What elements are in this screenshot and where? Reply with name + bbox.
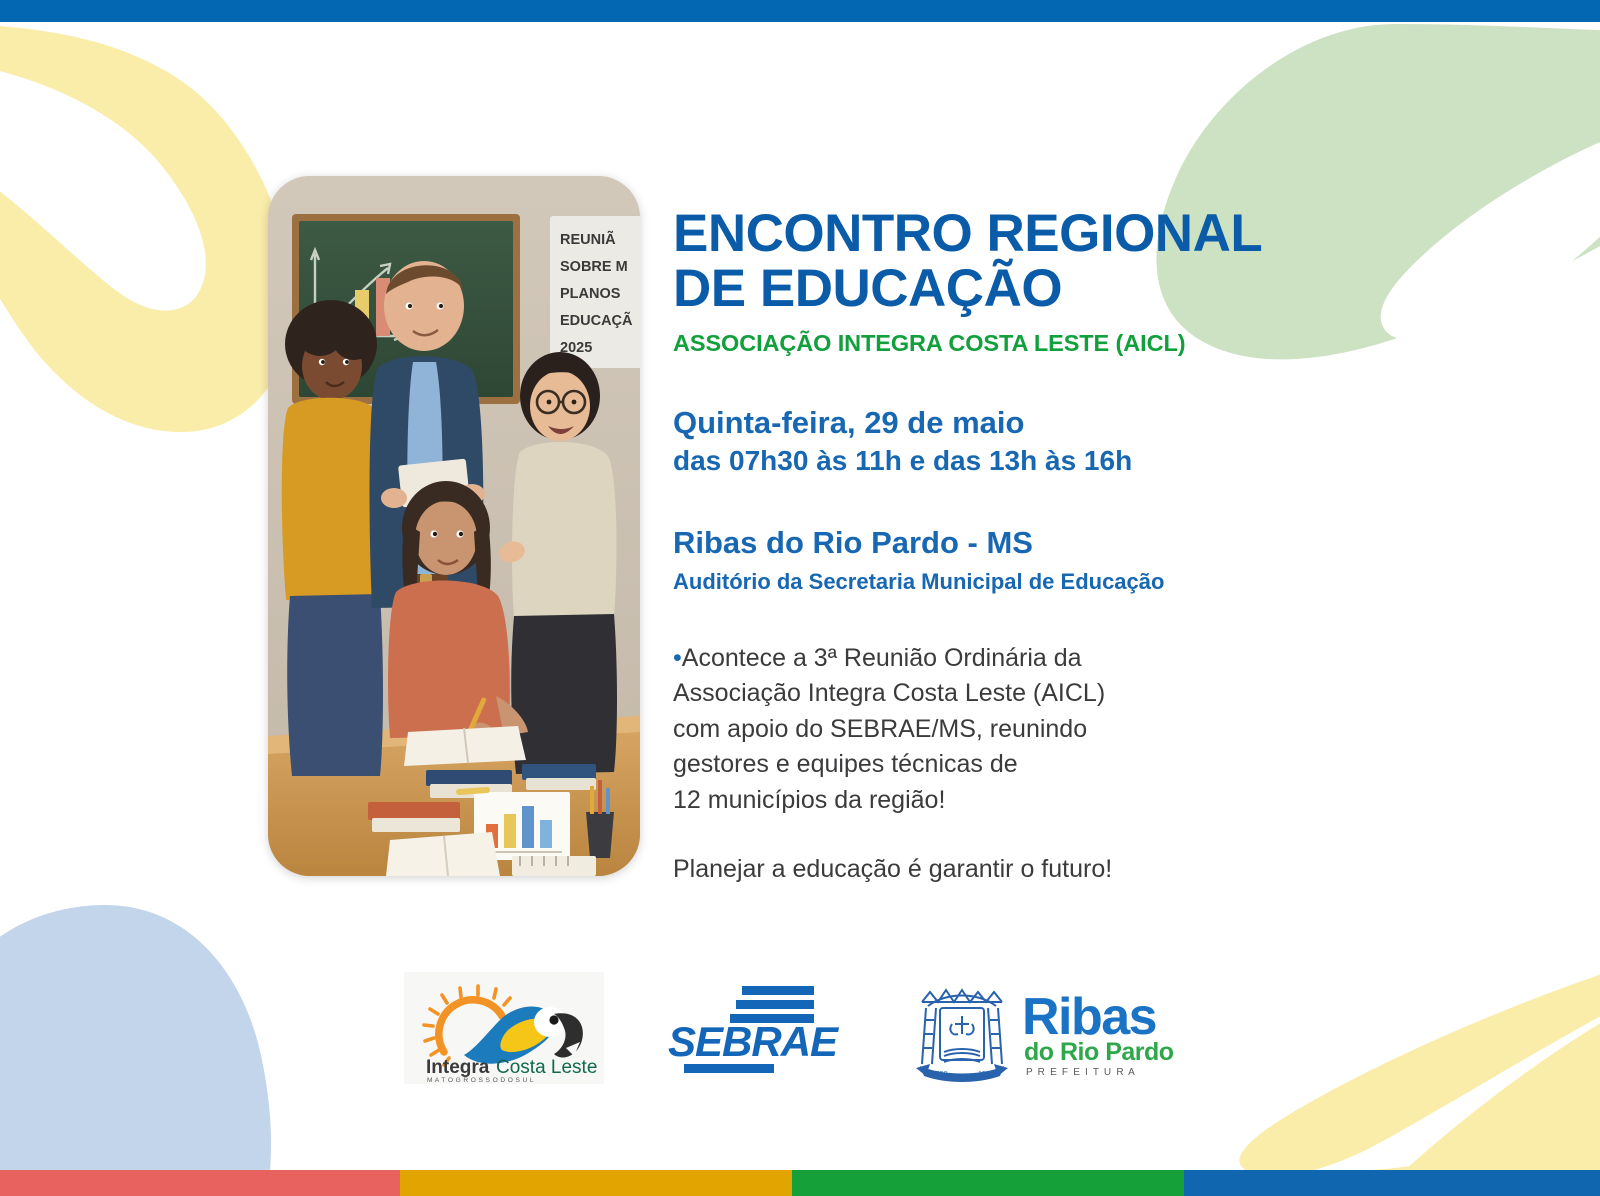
integra-wordmark-part2: Costa Leste (496, 1057, 597, 1078)
blob-yellow-top-left (0, 24, 292, 432)
logo-ribas-do-rio-pardo: 1950 1964 Ribas do Rio Pardo P R E F E I… (906, 972, 1196, 1084)
svg-text:PLANOS: PLANOS (560, 286, 621, 302)
date-time-block: Quinta-feira, 29 de maio das 07h30 às 11… (673, 403, 1373, 479)
sebrae-wordmark: SEBRAE (668, 1018, 840, 1065)
book-blue (522, 764, 596, 780)
sponsor-logo-strip: Integra Costa Leste M A T O G R O S S O … (0, 965, 1600, 1090)
event-date: Quinta-feira, 29 de maio (673, 403, 1373, 443)
poster-canvas: REUNIÃ SOBRE M PLANOS EDUCAÇÃ 2025 (0, 0, 1600, 1196)
bottom-bar-segment-blue (1184, 1170, 1600, 1196)
title-line-1: ENCONTRO REGIONAL (673, 204, 1262, 263)
title-line-2: DE EDUCAÇÃO (673, 259, 1062, 318)
description-line-2: Associação Integra Costa Leste (AICL) (673, 676, 1373, 712)
integra-wordmark-part1: Integra (426, 1057, 490, 1078)
ribas-tagline: P R E F E I T U R A (1026, 1067, 1136, 1078)
coat-of-arms-year-right: 1964 (978, 1071, 994, 1078)
description-line-5: 12 municípios da região! (673, 783, 1373, 819)
blob-yellow-bottom-right (1370, 1110, 1600, 1170)
description-line-4: gestores e equipes técnicas de (673, 747, 1373, 783)
poster-text-content: ENCONTRO REGIONAL DE EDUCAÇÃO ASSOCIAÇÃO… (673, 206, 1373, 888)
integra-tagline: M A T O G R O S S O D O S U L (427, 1077, 534, 1084)
integra-costa-leste-logo: Integra Costa Leste M A T O G R O S S O … (404, 972, 604, 1084)
event-venue: Auditório da Secretaria Municipal de Edu… (673, 567, 1373, 596)
svg-text:EDUCAÇÃ: EDUCAÇÃ (560, 311, 633, 329)
svg-text:REUNIÃ: REUNIÃ (560, 230, 616, 248)
classroom-illustration-card: REUNIÃ SOBRE M PLANOS EDUCAÇÃ 2025 (268, 176, 640, 876)
logo-integra-costa-leste: Integra Costa Leste M A T O G R O S S O … (404, 972, 604, 1084)
spiral-notepad (512, 856, 596, 876)
bottom-color-bar (0, 1170, 1600, 1196)
description-line-1: •Acontece a 3ª Reunião Ordinária da (673, 641, 1373, 677)
book-orange (368, 802, 460, 820)
bullet-icon: • (673, 644, 682, 672)
bottom-bar-segment-amber (400, 1170, 792, 1196)
logo-sebrae: SEBRAE (662, 978, 848, 1078)
book-navy (426, 770, 512, 786)
pencil-cup (586, 812, 614, 858)
event-time: das 07h30 às 11h e das 13h às 16h (673, 443, 1373, 479)
blob-yellow-top-left-cut (0, 60, 206, 311)
coat-of-arms-year-left: 1950 (932, 1071, 948, 1078)
city-coat-of-arms-icon (916, 990, 1008, 1082)
description-block: •Acontece a 3ª Reunião Ordinária da Asso… (673, 641, 1373, 888)
sebrae-logo: SEBRAE (662, 978, 848, 1078)
description-line-3: com apoio do SEBRAE/MS, reunindo (673, 712, 1373, 748)
event-city: Ribas do Rio Pardo - MS (673, 523, 1373, 563)
page-title: ENCONTRO REGIONAL DE EDUCAÇÃO (673, 206, 1373, 316)
description-text-1: Acontece a 3ª Reunião Ordinária da (682, 644, 1082, 672)
ribas-do-rio-pardo-logo: 1950 1964 Ribas do Rio Pardo P R E F E I… (906, 972, 1196, 1084)
svg-text:SOBRE M: SOBRE M (560, 259, 628, 275)
bottom-bar-segment-red (0, 1170, 400, 1196)
bottom-bar-segment-green (792, 1170, 1184, 1196)
classroom-team-illustration: REUNIÃ SOBRE M PLANOS EDUCAÇÃ 2025 (268, 176, 640, 876)
macaw-eye-icon (549, 1015, 558, 1024)
organization-subtitle: ASSOCIAÇÃO INTEGRA COSTA LESTE (AICL) (673, 330, 1373, 357)
blob-green-top-right-cut (1381, 120, 1600, 340)
closing-statement: Planejar a educação é garantir o futuro! (673, 852, 1373, 888)
top-color-bar (0, 0, 1600, 22)
ribas-subwordmark: do Rio Pardo (1024, 1038, 1174, 1066)
location-block: Ribas do Rio Pardo - MS Auditório da Sec… (673, 523, 1373, 597)
